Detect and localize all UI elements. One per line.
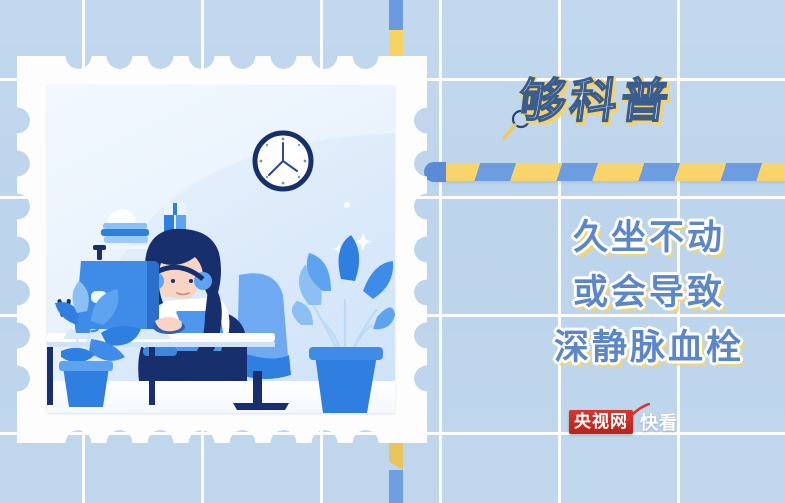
woman-working-at-laptop-illustration xyxy=(47,85,395,413)
page-title: 够科普 xyxy=(516,77,675,124)
red-swoosh-icon xyxy=(624,403,650,423)
vertical-ribbon-bottom xyxy=(389,440,403,503)
stripe-left-cap xyxy=(424,162,446,182)
diagonal-stripe-divider xyxy=(434,163,785,181)
headline-line-1: 久坐不动 xyxy=(524,220,774,255)
ribbon-segment-blue xyxy=(389,0,403,30)
wall-clock-icon xyxy=(255,133,311,189)
postage-stamp-frame xyxy=(17,56,427,443)
poster-canvas: 够科普 久坐不动 或会导致 深静脉血栓 央视网 快看 xyxy=(0,0,785,503)
headline-line-2: 或会导致 xyxy=(524,275,774,310)
ribbon-segment-yellow xyxy=(389,440,403,470)
cctv-logo: 央视网 快看 xyxy=(569,408,678,435)
ribbon-segment-blue xyxy=(389,470,403,503)
stamp-illustration-area xyxy=(47,85,395,413)
headline-line-3: 深静脉血栓 xyxy=(524,330,774,365)
